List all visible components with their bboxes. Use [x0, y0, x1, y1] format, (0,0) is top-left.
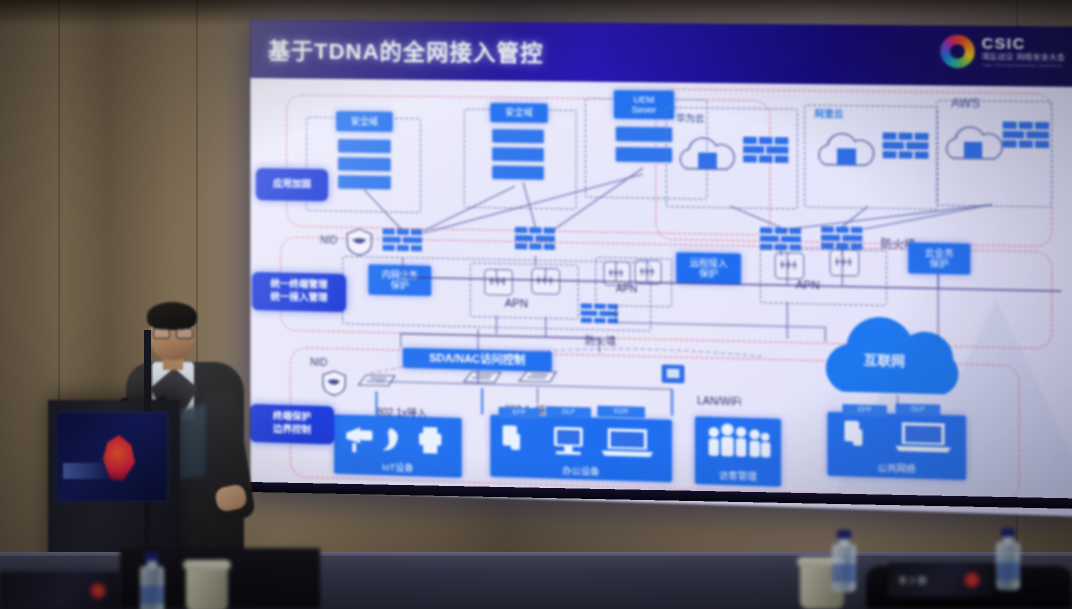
nameplate-emblem-icon — [964, 572, 980, 588]
water-bottle — [140, 552, 164, 609]
glasses-icon — [153, 328, 191, 337]
label-endpoint-l2: 边界控制 — [273, 424, 311, 438]
page-title: 基于TDNA的全网接入管控 — [268, 33, 544, 68]
label-app-hardening: 应用加固 — [273, 178, 311, 191]
projection-screen: 安全域 安全域 UEM Sever — [250, 20, 1072, 517]
water-bottle — [996, 528, 1020, 590]
event-logo: CSIC 湾区创见 网络安全大会 Cyber Security Innovati… — [940, 35, 1065, 69]
nameplate-right-text: 李少鹏 — [888, 574, 928, 587]
nameplate-emblem-icon — [90, 583, 106, 599]
csic-swirl-icon — [940, 35, 974, 68]
label-unified-l1: 统一终端管理 — [270, 279, 327, 293]
presenter-hair — [147, 302, 197, 330]
sidebar-label-unified-mgmt[interactable]: 统一终端管理 统一接入管理 — [252, 272, 346, 312]
label-unified-l2: 统一接入管理 — [270, 291, 327, 305]
logo-chinese: 湾区创见 网络安全大会 — [982, 54, 1066, 62]
nameplate-right: 李少鹏 — [888, 563, 994, 597]
sidebar-label-app-hardening[interactable]: 应用加固 — [256, 168, 328, 201]
logo-text-block: CSIC 湾区创见 网络安全大会 Cyber Security Innovati… — [982, 36, 1066, 68]
nameplate-left — [0, 572, 120, 609]
network-diagram: 安全域 安全域 UEM Sever — [250, 78, 1072, 517]
slide-header-band: 基于TDNA的全网接入管控 CSIC 湾区创见 网络安全大会 Cyber Sec… — [250, 20, 1072, 87]
podium-logo-text — [63, 463, 111, 479]
logo-acronym: CSIC — [982, 36, 1066, 52]
slide-canvas: 安全域 安全域 UEM Sever — [250, 78, 1072, 517]
podium-screen — [56, 412, 168, 502]
connector-lines — [250, 78, 1072, 517]
water-bottle — [832, 530, 856, 592]
paper-cup — [186, 566, 228, 609]
label-endpoint-l1: 终端保护 — [273, 411, 311, 425]
sidebar-label-endpoint[interactable]: 终端保护 边界控制 — [250, 404, 334, 445]
conference-photo-scene: 安全域 安全域 UEM Sever — [0, 0, 1072, 609]
logo-english: Cyber Security Innovation Conference — [982, 63, 1066, 68]
